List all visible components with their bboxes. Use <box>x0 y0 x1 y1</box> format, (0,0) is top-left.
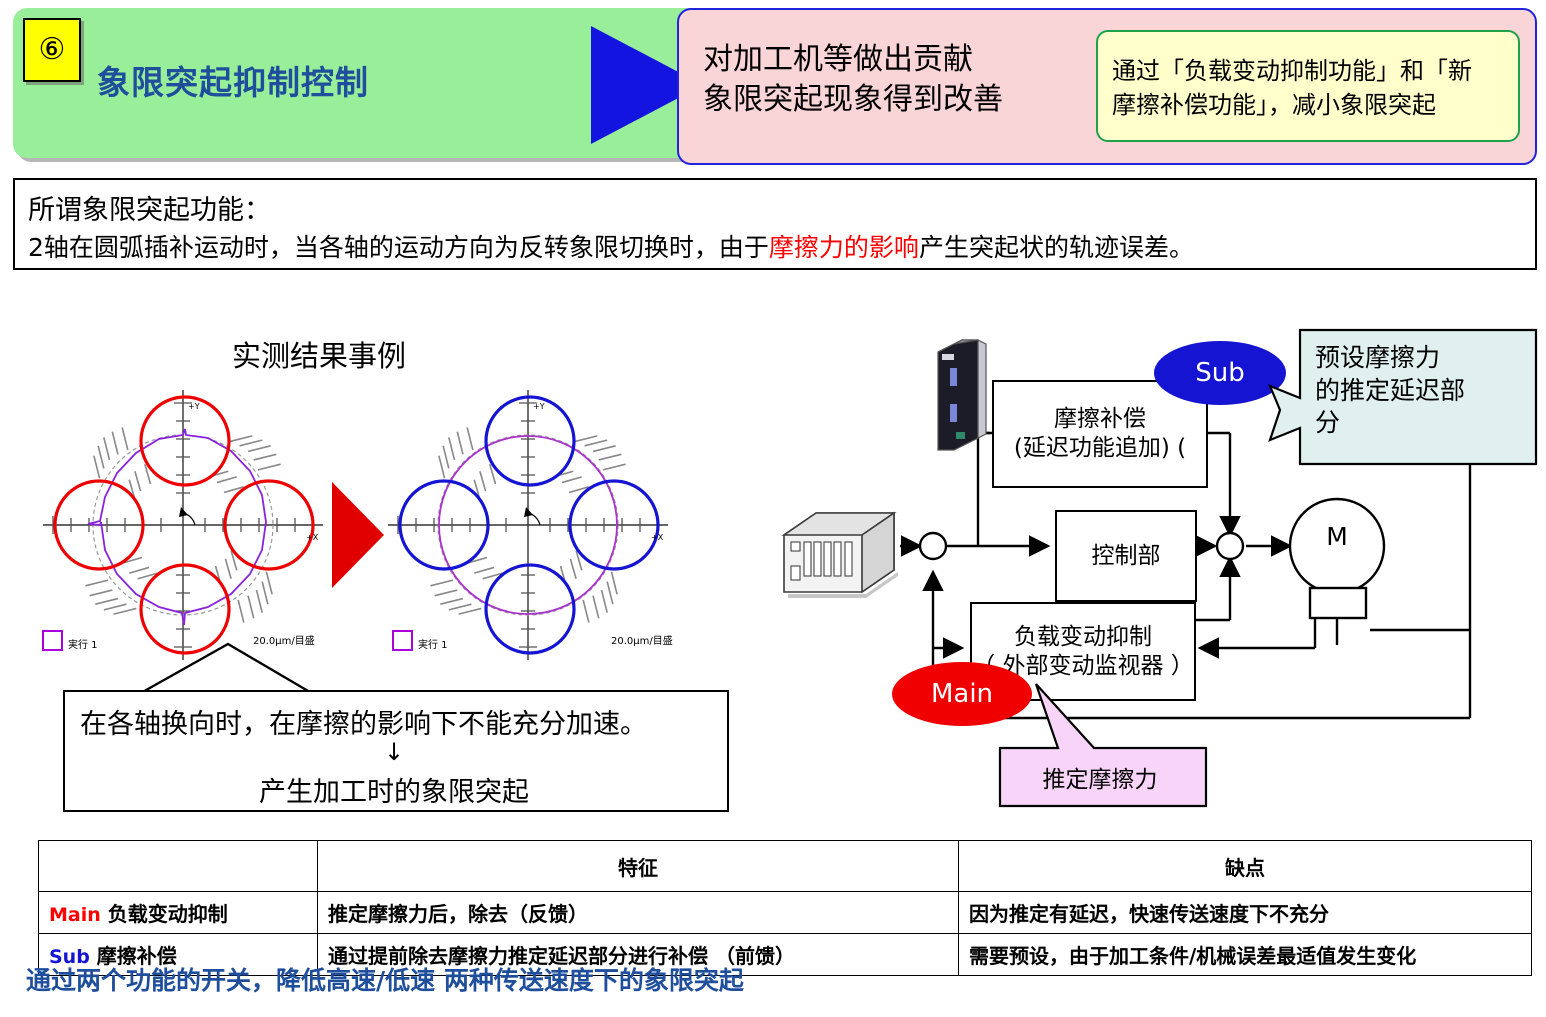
comparison-table: 特征 缺点 Main 负载变动抑制 推定摩擦力后，除去（反馈） 因为推定有延迟，… <box>38 840 1532 976</box>
benefit-text: 对加工机等做出贡献 象限突起现象得到改善 <box>703 40 1033 120</box>
sub-tag-label: Sub <box>1195 358 1245 388</box>
header-band: ⑥ 象限突起抑制控制 对加工机等做出贡献 象限突起现象得到改善 通过「负载变动抑… <box>13 8 1533 158</box>
callout-line-2: 产生加工时的象限突起 <box>63 770 725 809</box>
preset-note-line-3: 分 <box>1315 407 1530 440</box>
measurement-chart-before: +Y +X <box>38 385 328 665</box>
axis-x-label: +X <box>651 533 664 542</box>
friction-compensation-line-1: 摩擦补偿 <box>1054 405 1146 434</box>
measurement-chart-after: +Y +X <box>383 385 673 665</box>
estimated-friction-note-text: 推定摩擦力 <box>1000 760 1200 794</box>
row-name-main: 负载变动抑制 <box>108 902 228 926</box>
axis-x-label: +X <box>306 533 319 542</box>
table-header-cell-1: 特征 <box>318 841 959 892</box>
table-cell-function-main: Main 负载变动抑制 <box>39 892 318 934</box>
slide-number-badge: ⑥ <box>23 18 81 82</box>
benefit-line-2: 象限突起现象得到改善 <box>703 80 1033 120</box>
chart-before-legend: 実行 1 <box>42 630 98 652</box>
note-line-1: 通过「负载变动抑制功能」和「新 <box>1112 54 1504 88</box>
table-cell-feature-main: 推定摩擦力后，除去（反馈） <box>318 892 959 934</box>
table-cell-drawback-main: 因为推定有延迟，快速传送速度下不充分 <box>959 892 1532 934</box>
benefit-line-1: 对加工机等做出贡献 <box>703 40 1033 80</box>
legend-swatch-icon <box>392 630 413 651</box>
table-cell-drawback-sub: 需要预设，由于加工条件/机械误差最适值发生变化 <box>959 934 1532 976</box>
preset-friction-note-text: 预设摩擦力 的推定延迟部 分 <box>1315 342 1530 440</box>
description-part-a: 2轴在圆弧插补运动时，当各轴的运动方向为反转象限切换时，由于 <box>28 233 769 262</box>
note-text: 通过「负载变动抑制功能」和「新 摩擦补偿功能」，减小象限突起 <box>1112 54 1504 122</box>
preset-note-line-1: 预设摩擦力 <box>1315 342 1530 375</box>
chart-after-scale: 20.0µm/目盛 <box>611 632 673 647</box>
table-header-row: 特征 缺点 <box>39 841 1532 892</box>
callout-tail <box>130 640 360 694</box>
friction-compensation-line-2: (延迟功能追加) ( <box>1014 434 1186 463</box>
description-body: 2轴在圆弧插补运动时，当各轴的运动方向为反转象限切换时，由于摩擦力的影响产生突起… <box>28 228 1194 264</box>
page-title: 象限突起抑制控制 <box>97 56 617 104</box>
measurement-title: 实测结果事例 <box>232 333 406 375</box>
legend-label: 実行 1 <box>418 640 448 651</box>
callout-line-1: 在各轴换向时，在摩擦的影响下不能充分加速。 <box>80 702 710 741</box>
load-suppression-line-1: 负载变动抑制 <box>1014 623 1152 652</box>
note-line-2: 摩擦补偿功能」，减小象限突起 <box>1112 88 1504 122</box>
description-heading: 所谓象限突起功能： <box>28 188 271 227</box>
axis-y-label: +Y <box>533 402 545 411</box>
legend-label: 実行 1 <box>68 640 98 651</box>
callout-arrow-symbol: ↓ <box>63 738 725 766</box>
control-unit-box: 控制部 <box>1055 510 1197 602</box>
main-tag-label: Main <box>931 679 993 709</box>
control-block-diagram: 摩擦补偿 (延迟功能追加) ( 控制部 负载变动抑制 （ 外部变动监视器 ） S… <box>770 330 1546 830</box>
description-part-b: 产生突起状的轨迹误差。 <box>919 233 1194 262</box>
row-tag-main: Main <box>49 904 101 926</box>
legend-swatch-icon <box>42 630 63 651</box>
motor-label: M <box>1302 522 1372 551</box>
table-row: Main 负载变动抑制 推定摩擦力后，除去（反馈） 因为推定有延迟，快速传送速度… <box>39 892 1532 934</box>
control-unit-label: 控制部 <box>1092 542 1161 571</box>
axis-y-label: +Y <box>188 402 200 411</box>
slide-number-label: ⑥ <box>39 35 66 65</box>
preset-note-line-2: 的推定延迟部 <box>1315 375 1530 408</box>
sub-tag-badge: Sub <box>1154 341 1286 405</box>
table-header-cell-2: 缺点 <box>959 841 1532 892</box>
description-highlight: 摩擦力的影响 <box>769 233 919 262</box>
table-header-cell-0 <box>39 841 318 892</box>
footer-summary: 通过两个功能的开关，降低高速/低速 两种传送速度下的象限突起 <box>26 961 744 997</box>
chart-after-legend: 実行 1 <box>392 630 448 652</box>
transition-arrow-icon <box>328 480 388 590</box>
